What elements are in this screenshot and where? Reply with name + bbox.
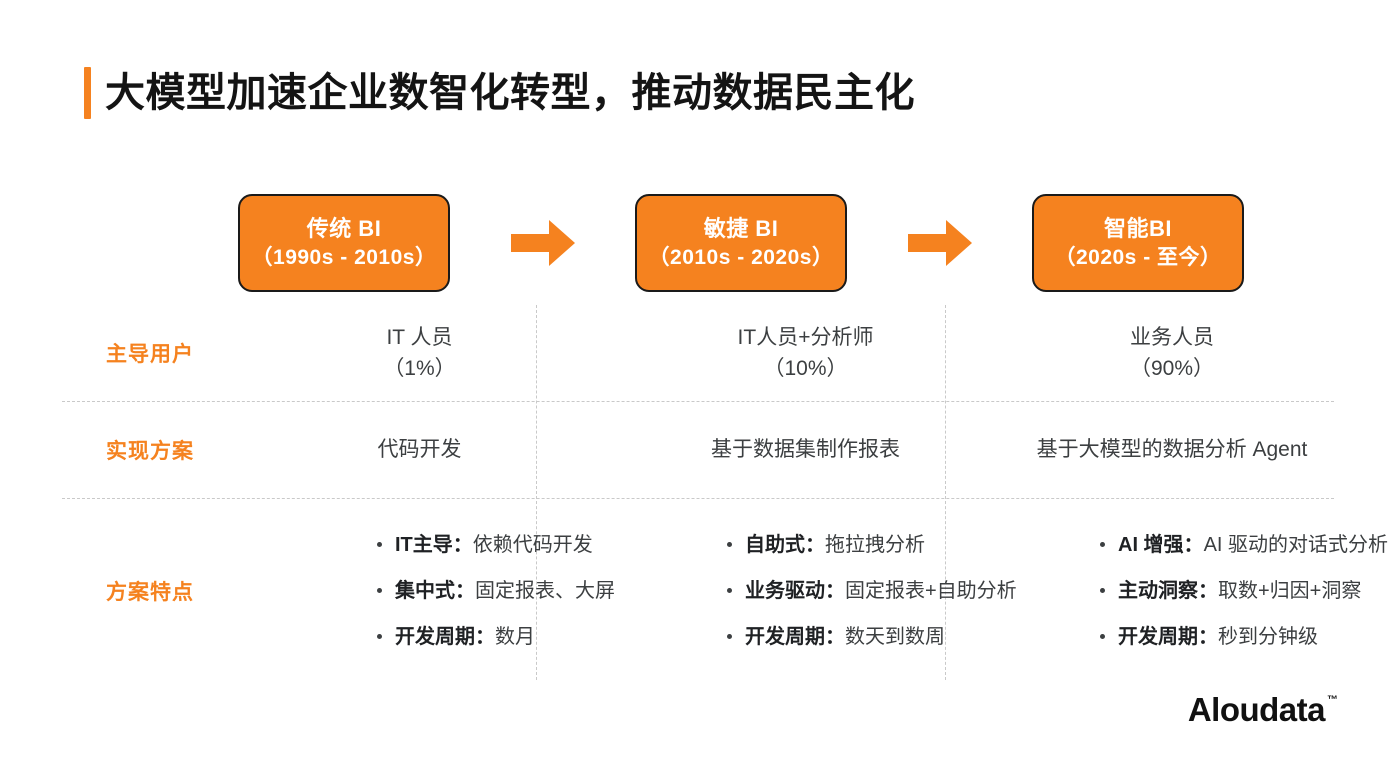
bullet-list: 自助式：拖拉拽分析 业务驱动：固定报表+自助分析 开发周期：数天到数周 bbox=[615, 533, 1024, 649]
bullet-key: 开发周期： bbox=[745, 626, 845, 648]
stage-period: （2010s - 2020s） bbox=[649, 246, 834, 270]
brand-logo: Aloudata ™ bbox=[1188, 693, 1338, 726]
list-item: 开发周期：秒到分钟级 bbox=[1096, 625, 1388, 649]
slide-root: 大模型加速企业数智化转型，推动数据民主化 传统 BI （1990s - 2010… bbox=[0, 0, 1400, 758]
row-label-features: 方案特点 bbox=[62, 576, 238, 606]
arrow-right-icon bbox=[509, 217, 577, 269]
cell-implementation-intelligent: 基于大模型的数据分析 Agent bbox=[1010, 434, 1334, 466]
bullet-value: 依赖代码开发 bbox=[473, 534, 593, 556]
cell-line-2: （90%） bbox=[1010, 353, 1334, 385]
arrow-right-icon bbox=[906, 217, 974, 269]
cell-line-1: 基于大模型的数据分析 Agent bbox=[1010, 434, 1334, 466]
cell-line-1: 代码开发 bbox=[238, 434, 601, 466]
bullet-key: AI 增强： bbox=[1118, 534, 1204, 556]
list-item: AI 增强：AI 驱动的对话式分析 bbox=[1096, 533, 1388, 557]
cell-features-agile: 自助式：拖拉拽分析 业务驱动：固定报表+自助分析 开发周期：数天到数周 bbox=[615, 533, 1024, 649]
list-item: 自助式：拖拉拽分析 bbox=[723, 533, 1024, 557]
list-item: 主动洞察：取数+归因+洞察 bbox=[1096, 579, 1388, 603]
list-item: 业务驱动：固定报表+自助分析 bbox=[723, 579, 1024, 603]
comparison-table: 主导用户 IT 人员 （1%） IT人员+分析师 （10%） 业务人员 （90%… bbox=[62, 305, 1334, 680]
bullet-value: 固定报表、大屏 bbox=[475, 580, 615, 602]
cell-line-2: （1%） bbox=[238, 353, 601, 385]
cell-line-2: （10%） bbox=[601, 353, 1010, 385]
cell-features-intelligent: AI 增强：AI 驱动的对话式分析 主动洞察：取数+归因+洞察 开发周期：秒到分… bbox=[1024, 533, 1388, 649]
stage-period: （1990s - 2010s） bbox=[252, 246, 437, 270]
stage-name: 敏捷 BI bbox=[704, 216, 779, 241]
list-item: IT主导：依赖代码开发 bbox=[373, 533, 615, 557]
trademark-symbol: ™ bbox=[1327, 695, 1338, 706]
list-item: 集中式：固定报表、大屏 bbox=[373, 579, 615, 603]
table-row: 实现方案 代码开发 基于数据集制作报表 基于大模型的数据分析 Agent bbox=[62, 402, 1334, 498]
bullet-list: IT主导：依赖代码开发 集中式：固定报表、大屏 开发周期：数月 bbox=[238, 533, 615, 649]
list-item: 开发周期：数天到数周 bbox=[723, 625, 1024, 649]
bullet-value: AI 驱动的对话式分析 bbox=[1204, 534, 1388, 556]
logo-wordmark: Aloudata bbox=[1188, 693, 1325, 726]
stage-period: （2020s - 至今） bbox=[1054, 246, 1221, 270]
bullet-key: IT主导： bbox=[395, 534, 473, 556]
list-item: 开发周期：数月 bbox=[373, 625, 615, 649]
cell-line-1: IT 人员 bbox=[238, 322, 601, 354]
stage-timeline: 传统 BI （1990s - 2010s） 敏捷 BI （2010s - 202… bbox=[238, 194, 1244, 292]
bullet-value: 数天到数周 bbox=[845, 626, 945, 648]
bullet-key: 开发周期： bbox=[1118, 626, 1218, 648]
cell-primary-users-intelligent: 业务人员 （90%） bbox=[1010, 322, 1334, 385]
cell-implementation-agile: 基于数据集制作报表 bbox=[601, 434, 1010, 466]
page-title: 大模型加速企业数智化转型，推动数据民主化 bbox=[84, 64, 915, 122]
row-label-primary-users: 主导用户 bbox=[62, 338, 238, 368]
cell-line-1: IT人员+分析师 bbox=[601, 322, 1010, 354]
bullet-key: 业务驱动： bbox=[745, 580, 845, 602]
title-accent-bar bbox=[84, 67, 91, 119]
bullet-key: 自助式： bbox=[745, 534, 825, 556]
cell-primary-users-agile: IT人员+分析师 （10%） bbox=[601, 322, 1010, 385]
cell-primary-users-traditional: IT 人员 （1%） bbox=[238, 322, 601, 385]
table-row: 方案特点 IT主导：依赖代码开发 集中式：固定报表、大屏 开发周期：数月 bbox=[62, 499, 1334, 682]
stage-box-traditional-bi[interactable]: 传统 BI （1990s - 2010s） bbox=[238, 194, 450, 292]
cell-implementation-traditional: 代码开发 bbox=[238, 434, 601, 466]
cell-features-traditional: IT主导：依赖代码开发 集中式：固定报表、大屏 开发周期：数月 bbox=[238, 533, 615, 649]
bullet-value: 拖拉拽分析 bbox=[825, 534, 925, 556]
stage-name: 智能BI bbox=[1104, 216, 1172, 241]
cell-line-1: 基于数据集制作报表 bbox=[601, 434, 1010, 466]
bullet-key: 主动洞察： bbox=[1118, 580, 1218, 602]
stage-box-agile-bi[interactable]: 敏捷 BI （2010s - 2020s） bbox=[635, 194, 847, 292]
bullet-key: 集中式： bbox=[395, 580, 475, 602]
title-text: 大模型加速企业数智化转型，推动数据民主化 bbox=[105, 73, 915, 113]
bullet-list: AI 增强：AI 驱动的对话式分析 主动洞察：取数+归因+洞察 开发周期：秒到分… bbox=[1024, 533, 1388, 649]
bullet-value: 秒到分钟级 bbox=[1218, 626, 1318, 648]
bullet-value: 固定报表+自助分析 bbox=[845, 580, 1017, 602]
bullet-key: 开发周期： bbox=[395, 626, 495, 648]
stage-name: 传统 BI bbox=[307, 216, 382, 241]
cell-line-1: 业务人员 bbox=[1010, 322, 1334, 354]
bullet-value: 数月 bbox=[495, 626, 535, 648]
bullet-value: 取数+归因+洞察 bbox=[1218, 580, 1361, 602]
table-row: 主导用户 IT 人员 （1%） IT人员+分析师 （10%） 业务人员 （90%… bbox=[62, 305, 1334, 401]
row-label-implementation: 实现方案 bbox=[62, 435, 238, 465]
stage-box-intelligent-bi[interactable]: 智能BI （2020s - 至今） bbox=[1032, 194, 1244, 292]
